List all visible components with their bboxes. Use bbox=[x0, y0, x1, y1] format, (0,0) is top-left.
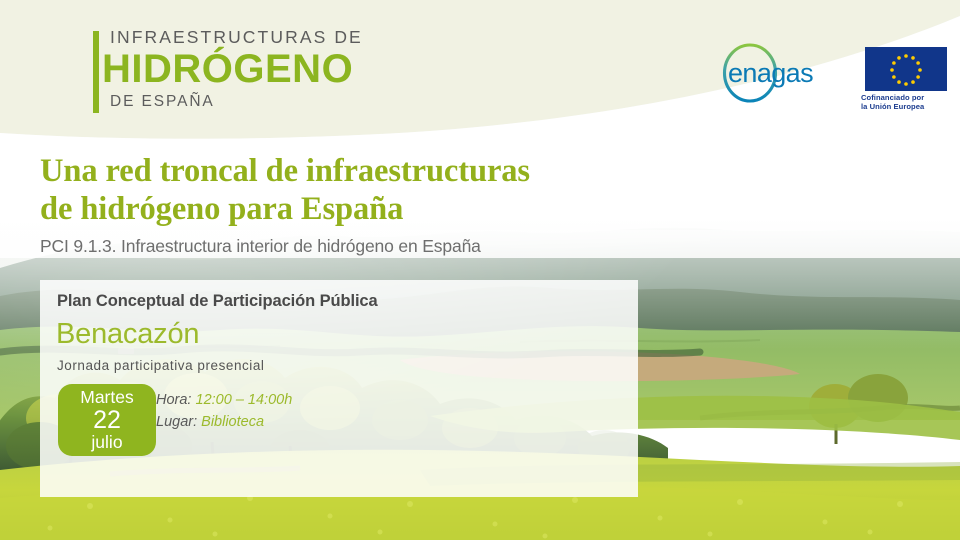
logo-line-infraestructuras: INFRAESTRUCTURAS DE bbox=[110, 27, 363, 48]
eu-cofinancing-caption: Cofinanciado por la Unión Europea bbox=[861, 93, 924, 112]
badge-day-number: 22 bbox=[93, 407, 121, 433]
event-detail-place: Lugar: Biblioteca bbox=[156, 412, 292, 434]
time-label: Hora: bbox=[156, 392, 191, 408]
card-plan-label: Plan Conceptual de Participación Pública bbox=[57, 292, 378, 311]
logo-h-stem-icon bbox=[93, 31, 99, 113]
place-label: Lugar: bbox=[156, 414, 197, 430]
eu-caption-line-2: la Unión Europea bbox=[861, 102, 924, 111]
svg-text:enagas: enagas bbox=[728, 58, 813, 88]
logo-line-hidrogeno: HIDRÓGENO bbox=[102, 47, 353, 92]
place-value: Biblioteca bbox=[201, 414, 264, 430]
card-session-type: Jornada participativa presencial bbox=[57, 358, 264, 373]
badge-weekday: Martes bbox=[80, 388, 133, 407]
eu-caption-line-1: Cofinanciado por bbox=[861, 93, 924, 102]
event-detail-time: Hora: 12:00 – 14:00h bbox=[156, 390, 292, 412]
page-subtitle: PCI 9.1.3. Infraestructura interior de h… bbox=[40, 236, 481, 257]
time-value: 12:00 – 14:00h bbox=[196, 392, 293, 408]
logo-enagas: enagas bbox=[706, 42, 826, 104]
page-title: Una red troncal de infraestructuras de h… bbox=[40, 152, 530, 228]
poster-canvas: INFRAESTRUCTURAS DE HIDRÓGENO DE ESPAÑA … bbox=[0, 0, 960, 540]
page-title-line-2: de hidrógeno para España bbox=[40, 191, 403, 227]
card-town-name: Benacazón bbox=[56, 318, 199, 351]
logo-infraestructuras-hidrogeno-espana: INFRAESTRUCTURAS DE HIDRÓGENO DE ESPAÑA bbox=[48, 27, 308, 112]
event-info-card: Plan Conceptual de Participación Pública… bbox=[40, 280, 638, 497]
event-date-badge: Martes 22 julio bbox=[58, 384, 156, 456]
badge-month: julio bbox=[91, 433, 122, 452]
event-details: Hora: 12:00 – 14:00h Lugar: Biblioteca bbox=[156, 390, 292, 433]
logo-line-de-espana: DE ESPAÑA bbox=[110, 93, 215, 111]
page-title-line-1: Una red troncal de infraestructuras bbox=[40, 153, 530, 189]
